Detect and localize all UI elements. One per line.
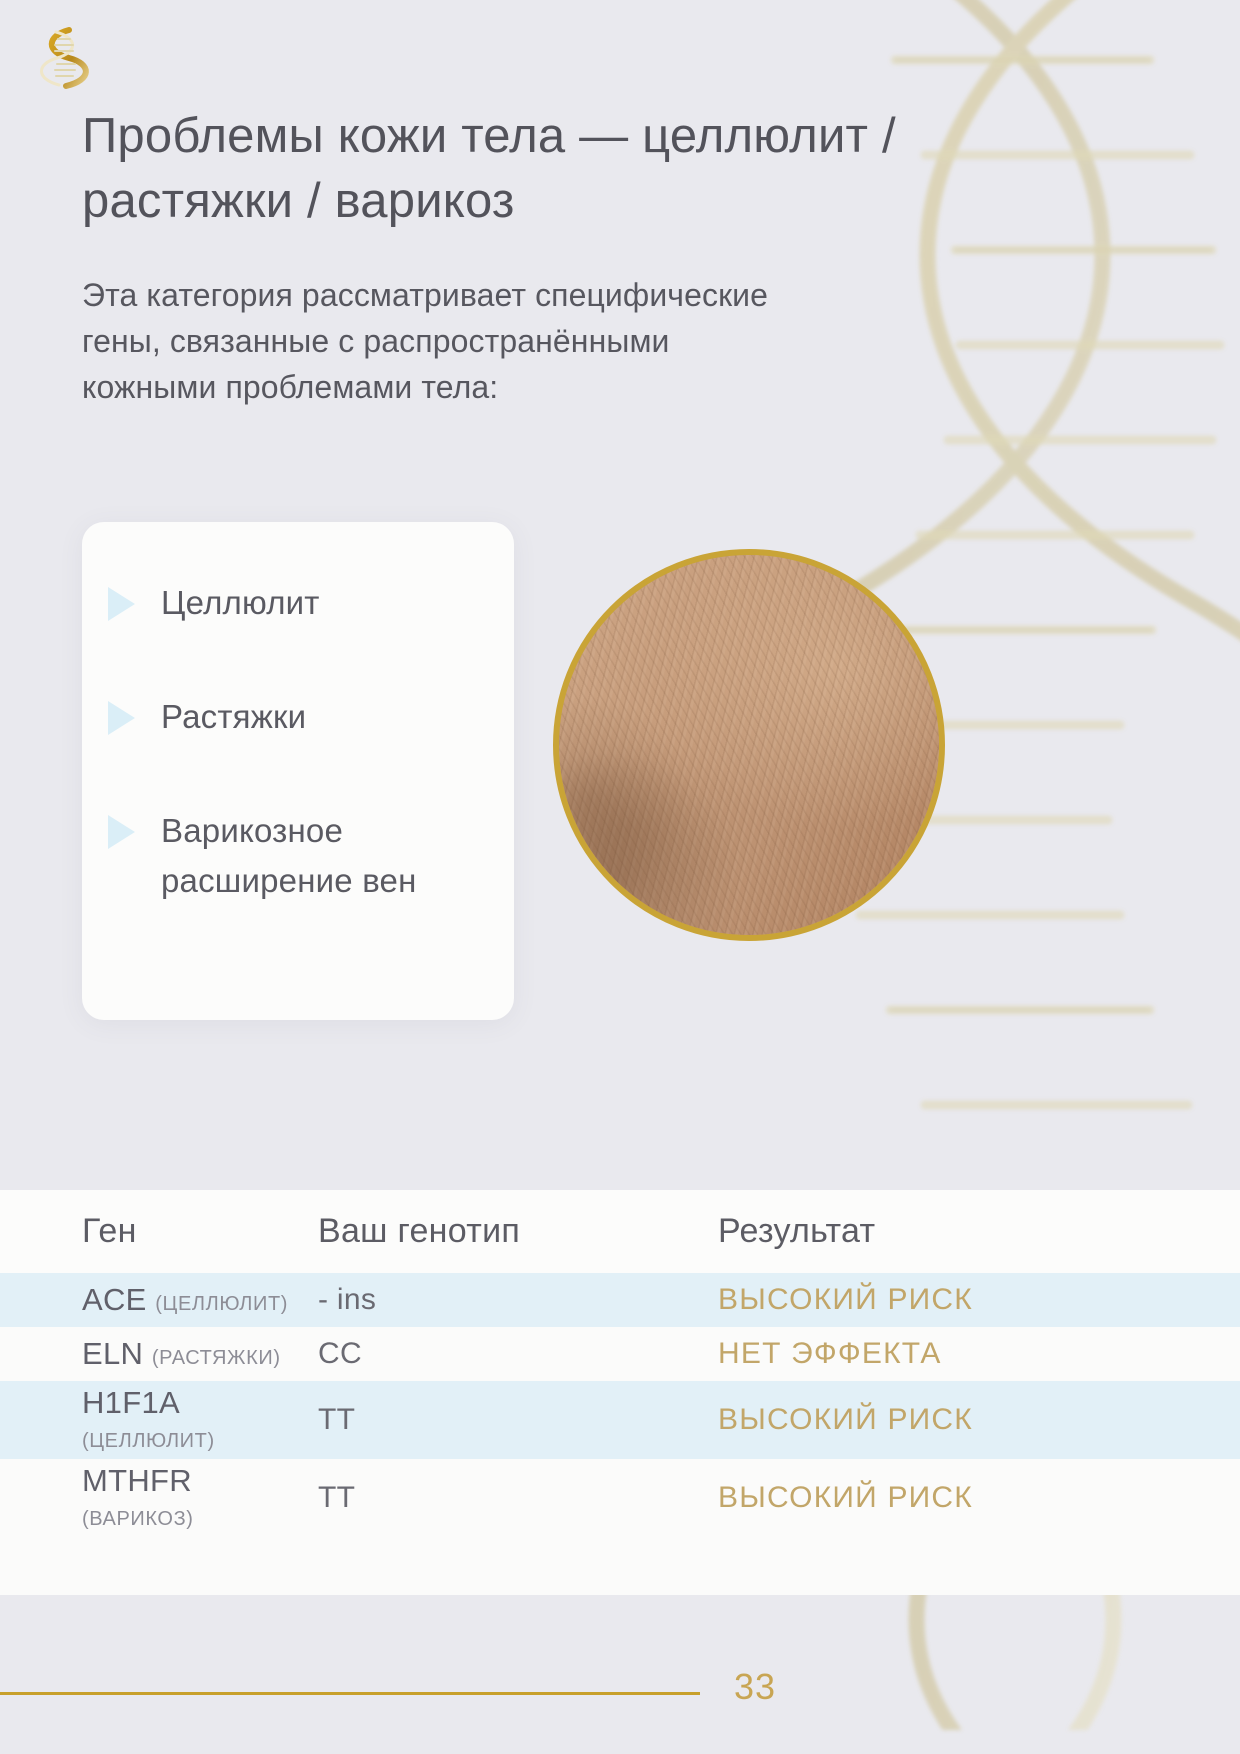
triangle-right-icon xyxy=(108,701,135,735)
cell-genotype: - ins xyxy=(310,1273,710,1327)
list-item-label: Целлюлит xyxy=(161,578,320,628)
conditions-card: Целлюлит Растяжки Варикозное расширение … xyxy=(82,522,514,1020)
gene-note: (ВАРИКОЗ) xyxy=(82,1508,194,1530)
gene-name: ELN xyxy=(82,1336,143,1371)
cell-gene: ACE (ЦЕЛЛЮЛИТ) xyxy=(0,1273,310,1327)
gene-note: (РАСТЯЖКИ) xyxy=(152,1347,281,1369)
triangle-right-icon xyxy=(108,815,135,849)
table-footer-cell xyxy=(0,1537,1240,1595)
status-badge: ВЫСОКИЙ РИСК xyxy=(718,1403,973,1436)
cell-gene: MTHFR (ВАРИКОЗ) xyxy=(0,1459,310,1537)
table-row: MTHFR (ВАРИКОЗ) TT ВЫСОКИЙ РИСК xyxy=(0,1459,1240,1537)
gene-note: (ЦЕЛЛЮЛИТ) xyxy=(82,1430,215,1452)
list-item: Целлюлит xyxy=(108,578,480,628)
cell-genotype: TT xyxy=(310,1459,710,1537)
table-header-row: Ген Ваш генотип Результат xyxy=(0,1190,1240,1273)
table-row: ACE (ЦЕЛЛЮЛИТ) - ins ВЫСОКИЙ РИСК xyxy=(0,1273,1240,1327)
gene-results-table: Ген Ваш генотип Результат ACE (ЦЕЛЛЮЛИТ)… xyxy=(0,1190,1240,1595)
page-title: Проблемы кожи тела — целлюлит / растяжки… xyxy=(82,104,982,234)
table-footer-spacer xyxy=(0,1537,1240,1595)
list-item: Растяжки xyxy=(108,692,480,742)
gene-note: (ЦЕЛЛЮЛИТ) xyxy=(155,1293,288,1315)
page-number: 33 xyxy=(734,1666,776,1708)
column-header-result: Результат xyxy=(710,1190,1240,1273)
cell-genotype: CC xyxy=(310,1327,710,1381)
list-item-label: Варикозное расширение вен xyxy=(161,806,480,906)
column-header-gene: Ген xyxy=(0,1190,310,1273)
column-header-genotype: Ваш генотип xyxy=(310,1190,710,1273)
list-item: Варикозное расширение вен xyxy=(108,806,480,906)
cell-result: НЕТ ЭФФЕКТА xyxy=(710,1327,1240,1381)
skin-folds-overlay xyxy=(559,555,939,935)
cell-genotype: TT xyxy=(310,1381,710,1459)
table-row: ELN (РАСТЯЖКИ) CC НЕТ ЭФФЕКТА xyxy=(0,1327,1240,1381)
dna-helix-icon xyxy=(32,22,94,94)
cell-result: ВЫСОКИЙ РИСК xyxy=(710,1381,1240,1459)
conditions-list: Целлюлит Растяжки Варикозное расширение … xyxy=(108,578,480,907)
status-badge: НЕТ ЭФФЕКТА xyxy=(718,1337,942,1370)
cell-gene: ELN (РАСТЯЖКИ) xyxy=(0,1327,310,1381)
slide-page: Проблемы кожи тела — целлюлит / растяжки… xyxy=(0,0,1240,1754)
triangle-right-icon xyxy=(108,587,135,621)
footer-divider xyxy=(0,1692,700,1695)
cell-result: ВЫСОКИЙ РИСК xyxy=(710,1459,1240,1537)
gene-name: MTHFR xyxy=(82,1463,192,1498)
status-badge: ВЫСОКИЙ РИСК xyxy=(718,1283,973,1316)
cell-gene: H1F1A (ЦЕЛЛЮЛИТ) xyxy=(0,1381,310,1459)
status-badge: ВЫСОКИЙ РИСК xyxy=(718,1481,973,1514)
gene-name: H1F1A xyxy=(82,1385,180,1420)
skin-texture-photo xyxy=(553,549,945,941)
gene-name: ACE xyxy=(82,1282,147,1317)
cell-result: ВЫСОКИЙ РИСК xyxy=(710,1273,1240,1327)
intro-paragraph: Эта категория рассматривает специфически… xyxy=(82,272,812,410)
table-row: H1F1A (ЦЕЛЛЮЛИТ) TT ВЫСОКИЙ РИСК xyxy=(0,1381,1240,1459)
list-item-label: Растяжки xyxy=(161,692,306,742)
